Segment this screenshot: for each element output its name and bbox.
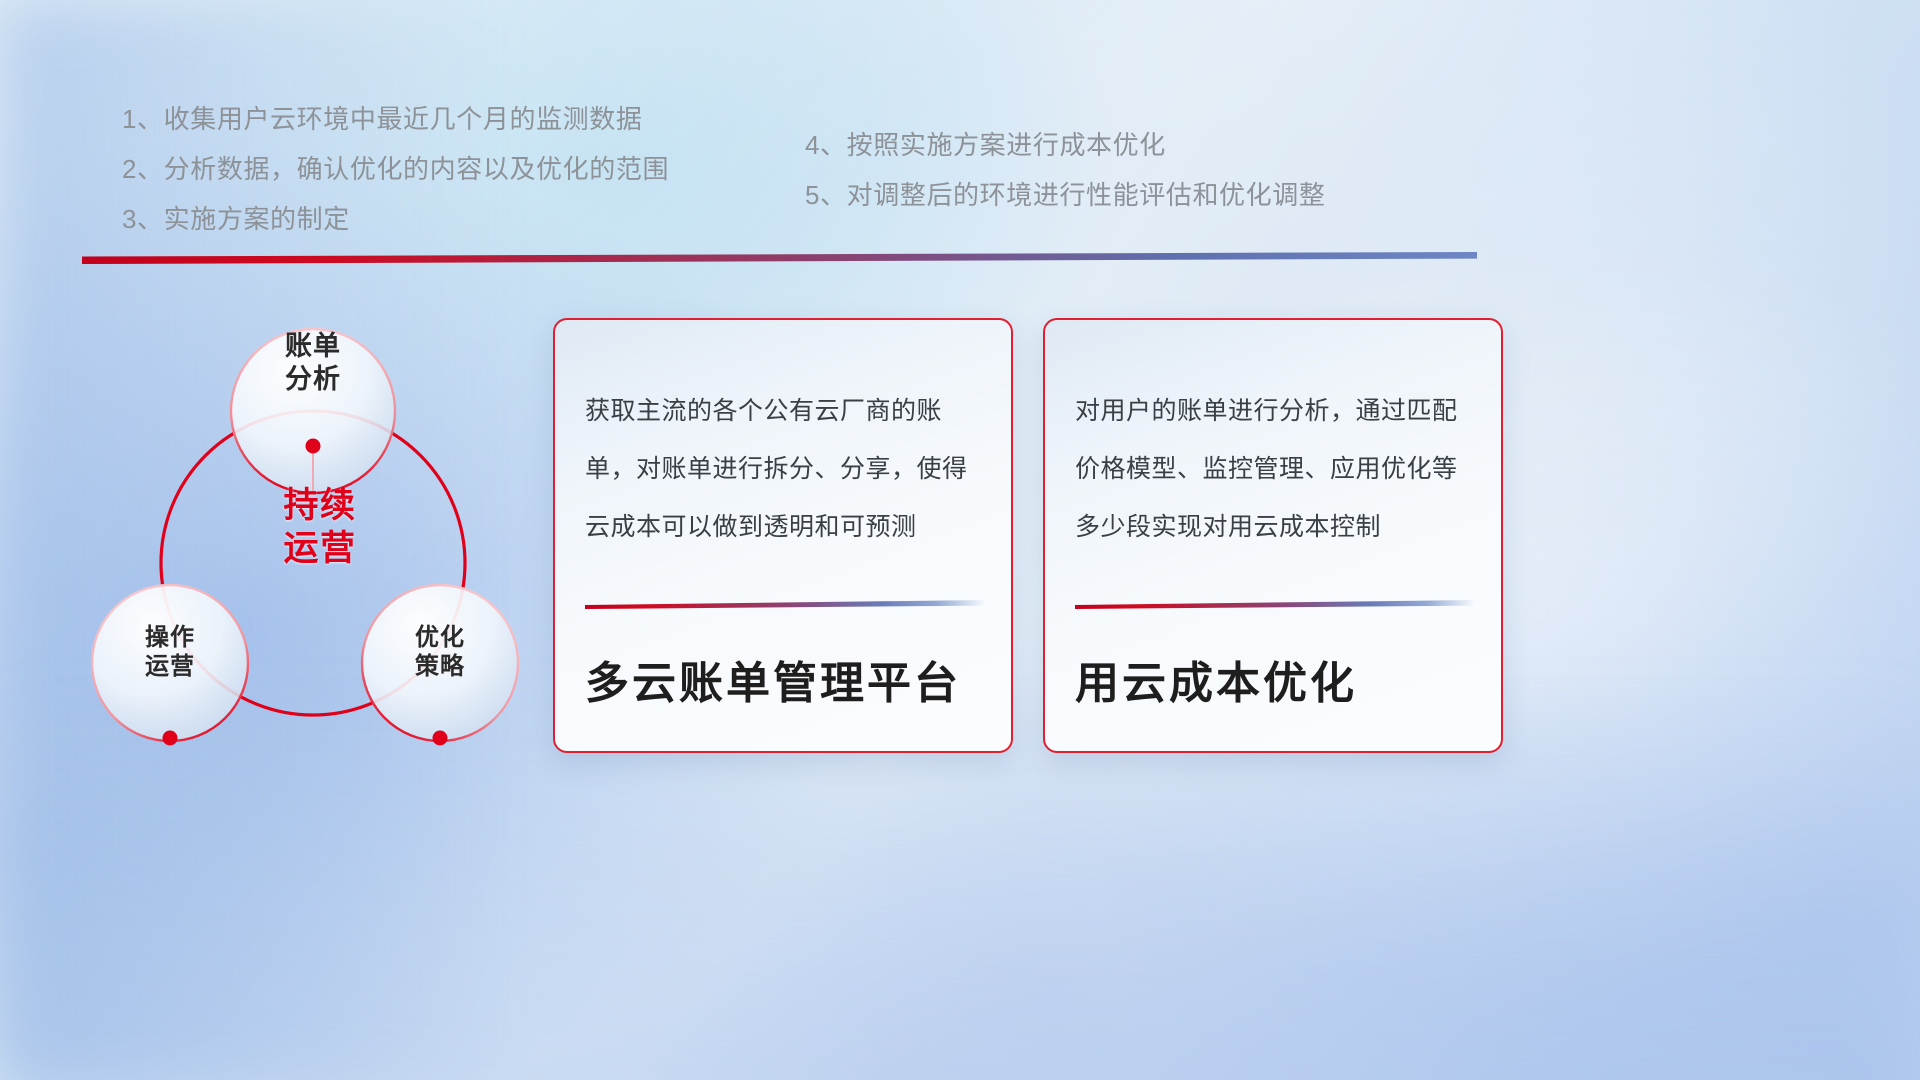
card-divider-bar [1075, 600, 1475, 609]
venn-diagram: 账单 分析 操作 运营 优化 策略 持续 运营 [75, 288, 535, 768]
venn-node-bottom-right [433, 731, 448, 746]
card-divider [585, 600, 985, 609]
venn-label-optimization-strategy: 优化 策略 [380, 623, 500, 682]
venn-label-continuous-operation: 持续 运营 [235, 484, 405, 571]
step-list-left: 1、收集用户云环境中最近几个月的监测数据 2、分析数据，确认优化的内容以及优化的… [122, 94, 762, 244]
venn-node-bottom-left [163, 731, 178, 746]
section-divider-bar [82, 252, 1477, 264]
card-title: 多云账单管理平台 [585, 658, 985, 711]
step-list-item: 4、按照实施方案进行成本优化 [805, 120, 1445, 170]
step-list-right: 4、按照实施方案进行成本优化 5、对调整后的环境进行性能评估和优化调整 [805, 120, 1445, 220]
card-divider [1075, 600, 1475, 609]
venn-label-operations: 操作 运营 [110, 623, 230, 682]
step-list-item: 5、对调整后的环境进行性能评估和优化调整 [805, 170, 1445, 220]
card-body-text: 对用户的账单进行分析，通过匹配价格模型、监控管理、应用优化等多少段实现对用云成本… [1075, 382, 1473, 556]
step-list-item: 2、分析数据，确认优化的内容以及优化的范围 [122, 144, 762, 194]
venn-label-billing-analysis: 账单 分析 [248, 330, 378, 396]
card-title: 用云成本优化 [1075, 658, 1475, 711]
step-list-item: 1、收集用户云环境中最近几个月的监测数据 [122, 94, 762, 144]
section-divider-rule [82, 252, 1477, 264]
card-body-text: 获取主流的各个公有云厂商的账单，对账单进行拆分、分享，使得云成本可以做到透明和可… [585, 382, 983, 556]
step-list-item: 3、实施方案的制定 [122, 194, 762, 244]
venn-node-top [306, 439, 321, 454]
info-card-multicloud-billing[interactable]: 获取主流的各个公有云厂商的账单，对账单进行拆分、分享，使得云成本可以做到透明和可… [553, 318, 1013, 753]
card-divider-bar [585, 600, 985, 609]
info-card-cloud-cost-optimization[interactable]: 对用户的账单进行分析，通过匹配价格模型、监控管理、应用优化等多少段实现对用云成本… [1043, 318, 1503, 753]
